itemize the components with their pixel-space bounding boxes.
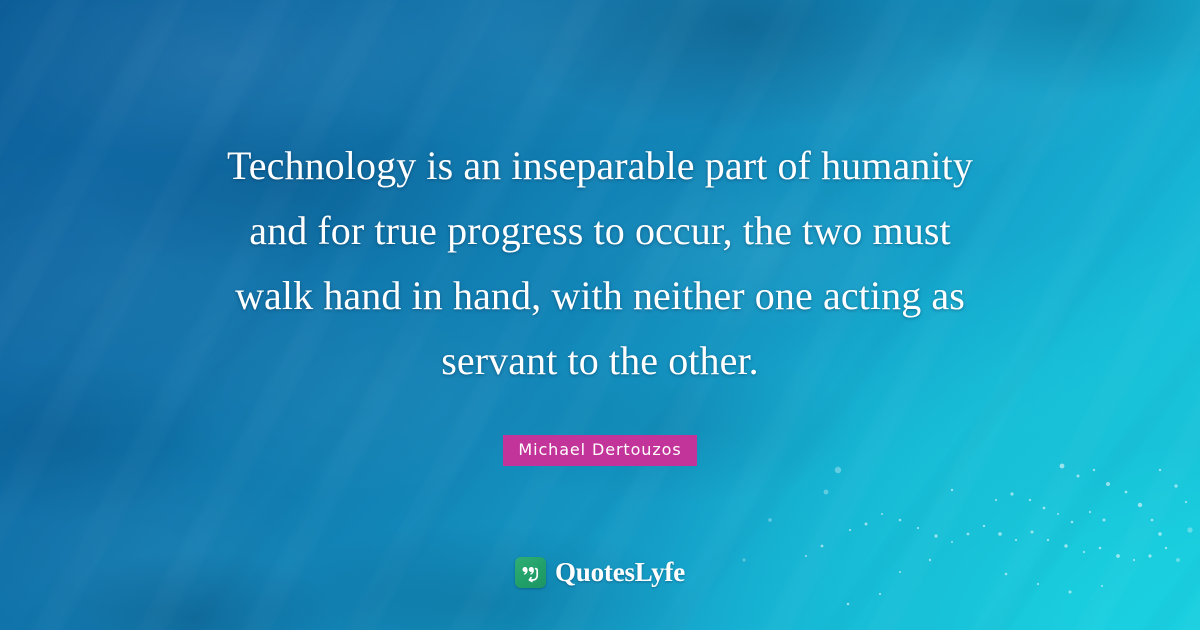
quote-line-2: and for true progress to occur, the two … <box>185 198 1015 263</box>
author-attribution: Michael Dertouzos <box>503 435 696 466</box>
quote-text-block: Technology is an inseparable part of hum… <box>185 133 1015 393</box>
quote-card: Technology is an inseparable part of hum… <box>0 0 1200 630</box>
quote-line-1: Technology is an inseparable part of hum… <box>185 133 1015 198</box>
quote-line-3: walk hand in hand, with neither one acti… <box>185 263 1015 328</box>
card-content: Technology is an inseparable part of hum… <box>0 0 1200 630</box>
author-name-badge[interactable]: Michael Dertouzos <box>503 435 696 466</box>
quote-line-4: servant to the other. <box>185 328 1015 393</box>
